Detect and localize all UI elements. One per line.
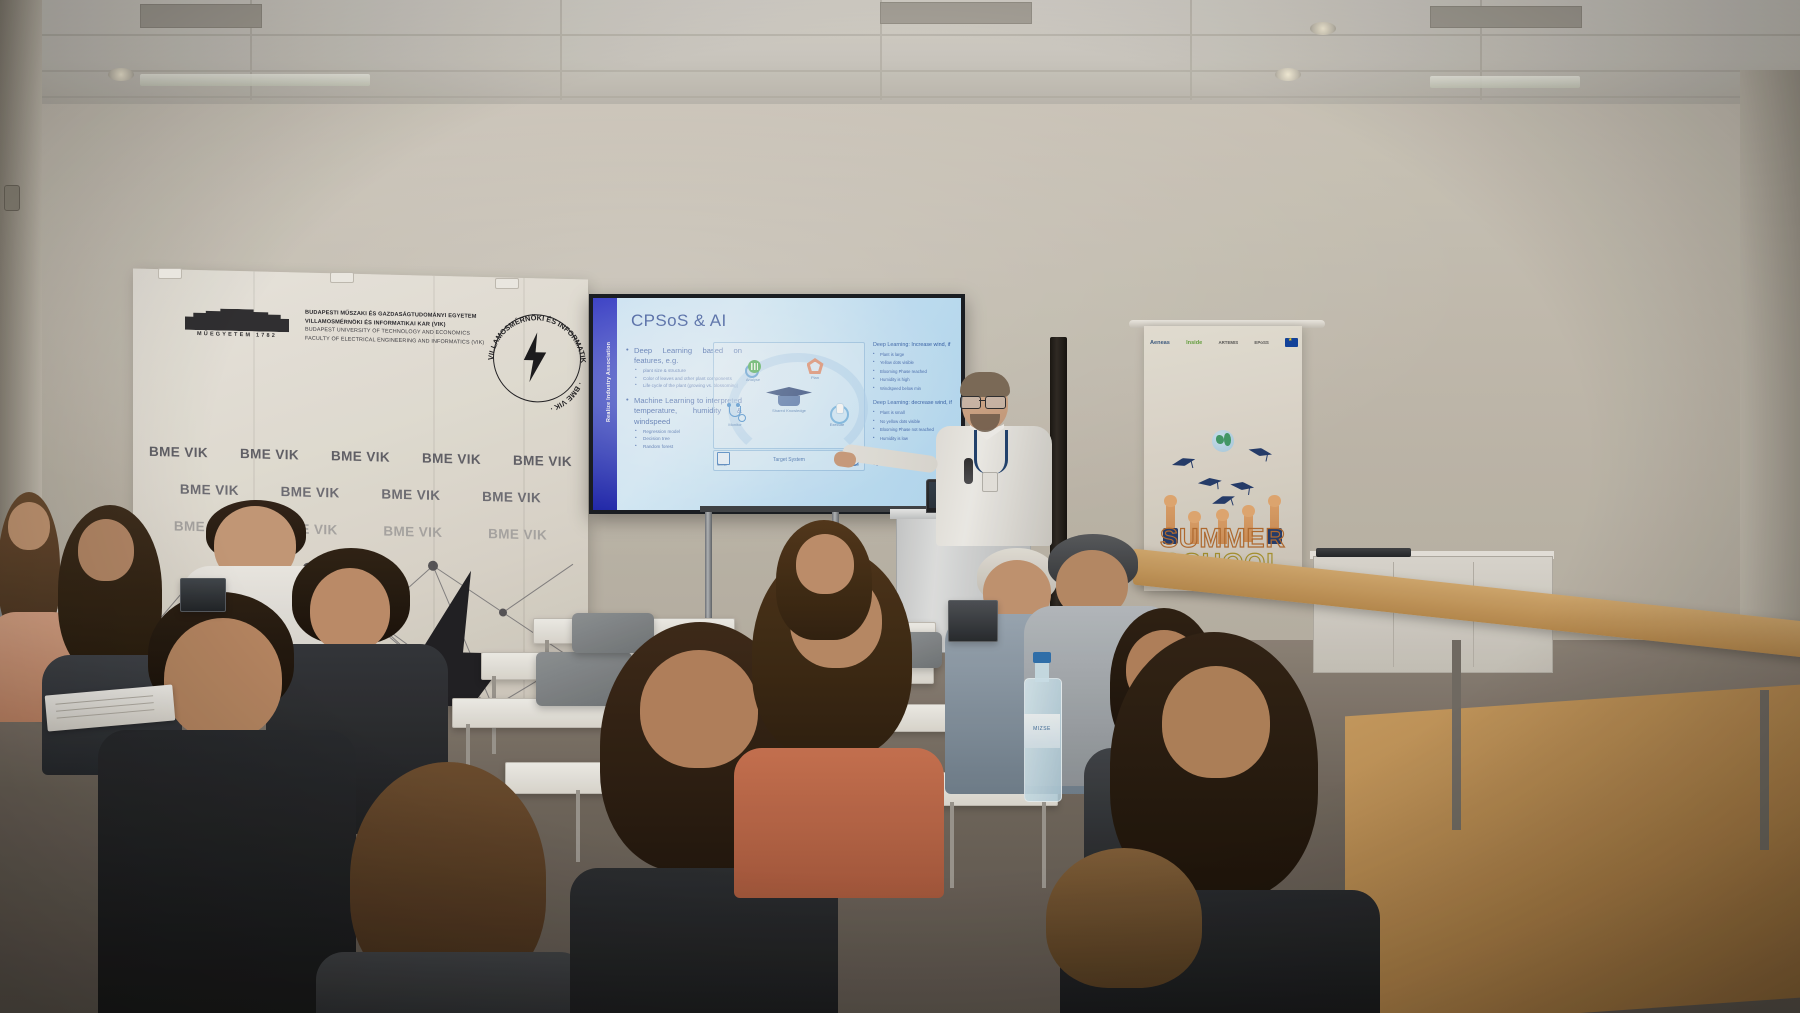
ceiling-strip-light-left [140, 74, 370, 86]
logo-eposs: EPoSS [1254, 340, 1268, 345]
watermark-text: BME VIK [331, 448, 390, 464]
node-label: Plan [792, 375, 838, 380]
watermark-text: BME VIK [149, 444, 208, 460]
projection-screen: Realize Industry Association CPSoS & AI … [589, 294, 965, 514]
audience-member [1036, 848, 1216, 1013]
slide-canvas: Realize Industry Association CPSoS & AI … [593, 298, 961, 510]
node-label: Monitor [712, 422, 758, 427]
mortarboard-icon [1247, 446, 1273, 462]
desk-leg [950, 802, 954, 888]
globe-icon [1212, 430, 1234, 452]
audience-member [770, 520, 880, 700]
watermark-text: BME VIK [513, 453, 572, 469]
lecture-hall-photo: MŰEGYETEM 1782 BUDAPESTI MŰSZAKI ÉS GAZD… [0, 0, 1800, 1013]
right-heading: Deep Learning: Increase wind, if [873, 342, 959, 348]
right-bullet: Yellow dots visible [873, 360, 959, 365]
banner-clip-2 [330, 272, 354, 283]
handheld-microphone [964, 458, 973, 484]
wooden-deck [1345, 684, 1800, 1013]
ceiling-spotlight-1 [1310, 22, 1336, 35]
presenter [930, 372, 1055, 547]
audience-member [118, 592, 328, 1012]
ceiling-projector-unit [1316, 548, 1411, 557]
plan-star-icon [807, 358, 824, 374]
desk-leg [576, 790, 580, 862]
watermark-text: BME VIK [281, 484, 340, 500]
railing-post [1452, 640, 1461, 830]
bottle-cap [1033, 652, 1051, 663]
ceiling-spotlight-2 [1275, 68, 1301, 81]
slide-sidebar-label: Realize Industry Association [606, 336, 612, 422]
slide-title: CPSoS & AI [631, 311, 727, 331]
diagram-node-analyse: Analyse [730, 359, 776, 382]
svg-text:· BME VIK ·: · BME VIK · [549, 380, 585, 414]
lanyard [974, 430, 1008, 474]
mortarboard-icon [1171, 455, 1197, 471]
eyeglasses-icon [960, 396, 1008, 407]
diagram-node-plan: Plan [792, 358, 838, 380]
mortarboard-icon [1211, 493, 1237, 511]
water-bottle: MIZSE [1024, 652, 1060, 800]
right-wall [1740, 70, 1800, 710]
audience-member [330, 762, 570, 1013]
graduation-cap-icon: Shared Knowledge [766, 387, 812, 413]
banner-clip-3 [495, 278, 519, 289]
diagram-node-monitor: Monitor [712, 403, 758, 427]
eu-flag-icon [1285, 338, 1298, 347]
mape-k-diagram: Analyse Plan Monitor Execute [713, 342, 865, 449]
logo-inside: Inside [1186, 340, 1202, 346]
ceiling-vent-center [880, 2, 1032, 24]
mortarboard-icon [1197, 477, 1222, 490]
ceiling-spotlight-3 [108, 68, 134, 81]
watermark-text: BME VIK [180, 482, 239, 498]
analyse-chart-icon [745, 359, 762, 376]
wall-sensor [4, 185, 20, 211]
vik-seal-logo: VILLAMOSMÉRNÖKI ÉS INFORMATIKAI KAR · BM… [479, 291, 587, 434]
ceiling-vent-right [1430, 6, 1582, 28]
tablet-on-desk [180, 578, 226, 612]
logo-aeneas: Aeneas [1150, 340, 1170, 346]
railing-post [1760, 690, 1769, 850]
bme-building-logo: MŰEGYETEM 1782 [185, 306, 289, 343]
ceiling-vent-left [140, 4, 262, 28]
diagram-node-execute: Execute [814, 403, 860, 427]
watermark-text: BME VIK [422, 451, 481, 467]
name-badge [982, 472, 998, 492]
graduation-cap-artwork [1144, 422, 1302, 532]
gear-bulb-icon [828, 403, 847, 421]
banner-sponsor-logos: Aeneas Inside ARTEMIS EPoSS [1150, 338, 1298, 347]
watermark-text: BME VIK [240, 446, 299, 462]
laptop-on-desk [948, 600, 998, 642]
ceiling-strip-light-right [1430, 76, 1580, 88]
banner-clip-1 [158, 268, 182, 279]
bme-logo-caption: MŰEGYETEM 1782 [185, 331, 289, 340]
bottle-brand: MIZSE [1024, 726, 1060, 732]
node-label: Shared Knowledge [758, 408, 820, 413]
watermark-text: BME VIK [482, 489, 541, 505]
slide-sidebar: Realize Industry Association [593, 298, 617, 510]
right-bullet: Plant is large [873, 352, 959, 357]
stethoscope-icon [726, 403, 745, 421]
watermark-text: BME VIK [381, 487, 440, 503]
logo-artemis: ARTEMIS [1218, 340, 1238, 345]
summer-school-banner: Aeneas Inside ARTEMIS EPoSS SU [1144, 326, 1302, 591]
sense-label: Sense [713, 463, 731, 467]
bottle-label: MIZSE [1024, 714, 1060, 748]
